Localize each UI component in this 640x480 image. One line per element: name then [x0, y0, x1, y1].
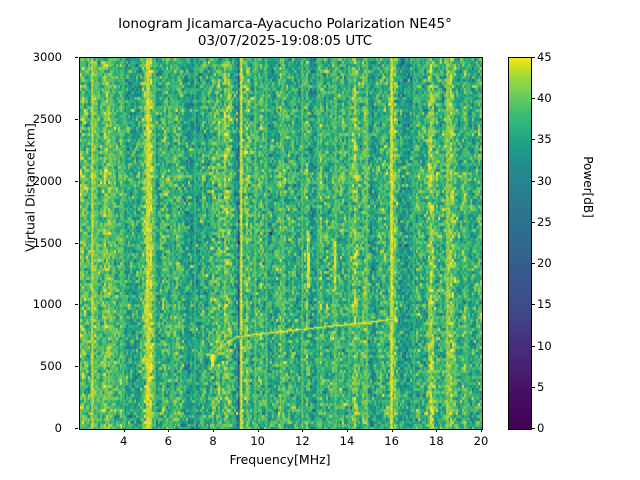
y-tick-label: 3000 [33, 50, 62, 64]
colorbar-tick-label: 30 [537, 174, 552, 188]
colorbar-tick-labels: 051015202530354045 [531, 57, 561, 428]
colorbar-tick-label: 25 [537, 215, 552, 229]
colorbar-tick [531, 346, 535, 347]
ionogram-figure: Ionogram Jicamarca-Ayacucho Polarization… [0, 0, 640, 480]
colorbar-tick-label: 0 [537, 421, 544, 435]
x-tick-label: 10 [250, 434, 265, 448]
colorbar-tick-label: 10 [537, 339, 552, 353]
y-tick [75, 119, 79, 120]
x-tick-label: 6 [165, 434, 172, 448]
colorbar-tick [531, 387, 535, 388]
x-axis-tick-labels: 468101214161820 [79, 432, 481, 452]
x-tick [481, 429, 482, 433]
ionogram-heatmap-canvas [80, 58, 482, 429]
colorbar-tick-label: 35 [537, 132, 552, 146]
x-axis-title: Frequency[MHz] [79, 452, 481, 467]
y-tick-label: 1000 [33, 297, 62, 311]
colorbar-tick-label: 45 [537, 50, 552, 64]
y-tick-label: 0 [55, 421, 62, 435]
y-axis-tickmarks [79, 57, 80, 428]
y-tick-label: 500 [40, 359, 62, 373]
x-tick-label: 4 [120, 434, 127, 448]
colorbar-tick [531, 181, 535, 182]
colorbar-tick [531, 428, 535, 429]
colorbar-tick [531, 304, 535, 305]
colorbar-title: Power[dB] [581, 117, 595, 257]
figure-title: Ionogram Jicamarca-Ayacucho Polarization… [0, 16, 570, 49]
x-tick-label: 8 [209, 434, 216, 448]
x-tick-label: 18 [429, 434, 444, 448]
colorbar-tick-label: 5 [537, 380, 544, 394]
colorbar-tick-label: 40 [537, 91, 552, 105]
y-axis-title: Virtual Distance[km] [23, 98, 38, 278]
colorbar-tick [531, 98, 535, 99]
colorbar [508, 57, 532, 430]
colorbar-tick [531, 57, 535, 58]
colorbar-tick [531, 222, 535, 223]
colorbar-tick-label: 20 [537, 256, 552, 270]
y-tick [75, 304, 79, 305]
y-tick [75, 366, 79, 367]
colorbar-tick [531, 139, 535, 140]
y-tick [75, 243, 79, 244]
y-tick [75, 181, 79, 182]
colorbar-tick [531, 263, 535, 264]
x-tick-label: 20 [474, 434, 489, 448]
y-tick [75, 428, 79, 429]
colorbar-tick-label: 15 [537, 297, 552, 311]
x-tick-label: 16 [384, 434, 399, 448]
x-tick-label: 12 [295, 434, 310, 448]
ionogram-plot-area [79, 57, 483, 430]
x-tick-label: 14 [340, 434, 355, 448]
y-tick [75, 57, 79, 58]
